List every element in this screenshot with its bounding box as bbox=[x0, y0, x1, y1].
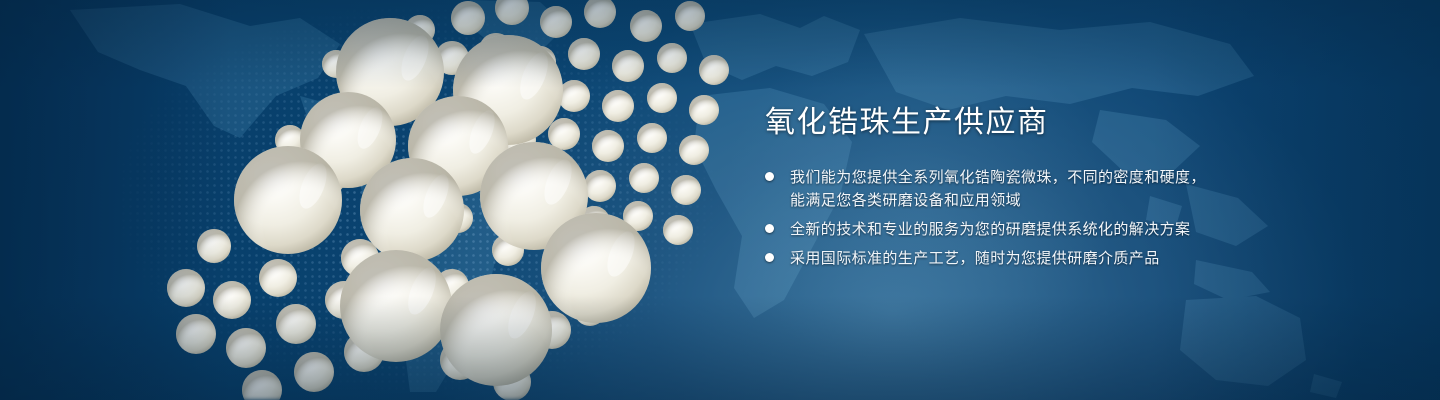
bullet-text: 我们能为您提供全系列氧化锆陶瓷微珠，不同的密度和硬度， 能满足您各类研磨设备和应… bbox=[790, 166, 1206, 212]
list-item: 我们能为您提供全系列氧化锆陶瓷微珠，不同的密度和硬度， 能满足您各类研磨设备和应… bbox=[765, 166, 1385, 212]
bullet-text: 采用国际标准的生产工艺，随时为您提供研磨介质产品 bbox=[790, 247, 1160, 270]
list-item: 采用国际标准的生产工艺，随时为您提供研磨介质产品 bbox=[765, 247, 1385, 270]
filled-circle-bullet-icon bbox=[765, 224, 774, 233]
filled-circle-bullet-icon bbox=[765, 253, 774, 262]
bullet-text: 全新的技术和专业的服务为您的研磨提供系统化的解决方案 bbox=[790, 218, 1190, 241]
bullet-line: 能满足您各类研磨设备和应用领域 bbox=[790, 189, 1206, 212]
bullet-line: 我们能为您提供全系列氧化锆陶瓷微珠，不同的密度和硬度， bbox=[790, 166, 1206, 189]
bullet-line: 采用国际标准的生产工艺，随时为您提供研磨介质产品 bbox=[790, 247, 1160, 270]
feature-bullet-list: 我们能为您提供全系列氧化锆陶瓷微珠，不同的密度和硬度， 能满足您各类研磨设备和应… bbox=[765, 166, 1385, 270]
hero-banner: 氧化锆珠生产供应商 我们能为您提供全系列氧化锆陶瓷微珠，不同的密度和硬度， 能满… bbox=[0, 0, 1440, 400]
page-title: 氧化锆珠生产供应商 bbox=[765, 108, 1385, 138]
list-item: 全新的技术和专业的服务为您的研磨提供系统化的解决方案 bbox=[765, 218, 1385, 241]
filled-circle-bullet-icon bbox=[765, 172, 774, 181]
bullet-line: 全新的技术和专业的服务为您的研磨提供系统化的解决方案 bbox=[790, 218, 1190, 241]
banner-content: 氧化锆珠生产供应商 我们能为您提供全系列氧化锆陶瓷微珠，不同的密度和硬度， 能满… bbox=[765, 108, 1385, 276]
